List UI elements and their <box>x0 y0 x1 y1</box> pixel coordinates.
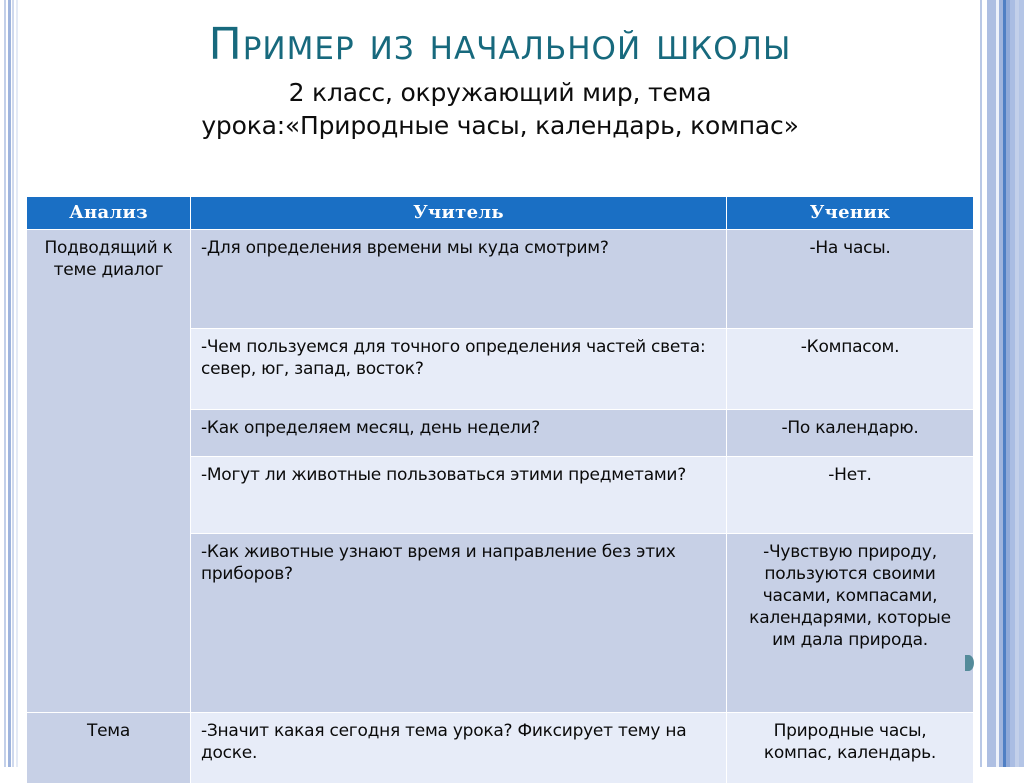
title-block: Пример из начальной школы 2 класс, окруж… <box>30 22 970 142</box>
teacher-cell: -Могут ли животные пользоваться этими пр… <box>191 457 727 534</box>
teacher-cell: -Для определения времени мы куда смотрим… <box>191 230 727 329</box>
teacher-cell: -Чем пользуемся для точного определения … <box>191 329 727 410</box>
lesson-analysis-table: Анализ Учитель Ученик Подводящий к теме … <box>26 196 974 784</box>
student-cell: -По календарю. <box>727 410 974 457</box>
table-header-row: Анализ Учитель Ученик <box>27 197 974 230</box>
edge-stripe <box>12 0 14 767</box>
subtitle-line-1: 2 класс, окружающий мир, тема <box>30 76 970 109</box>
column-header-student: Ученик <box>727 197 974 230</box>
teacher-cell: -Как животные узнают время и направление… <box>191 534 727 713</box>
table-row: Тема -Значит какая сегодня тема урока? Ф… <box>27 713 974 784</box>
edge-stripe <box>8 0 11 767</box>
analysis-label-topic: Тема <box>27 713 191 784</box>
student-cell: Природные часы, компас, календарь. <box>727 713 974 784</box>
edge-stripe <box>980 0 982 767</box>
edge-stripe <box>4 0 6 767</box>
column-header-analysis: Анализ <box>27 197 191 230</box>
table-row: Подводящий к теме диалог -Для определени… <box>27 230 974 329</box>
edge-stripe <box>16 0 18 767</box>
column-header-teacher: Учитель <box>191 197 727 230</box>
left-edge-decoration <box>0 0 22 767</box>
page-title: Пример из начальной школы <box>30 22 970 68</box>
right-edge-decoration <box>978 0 1024 767</box>
slide-canvas: Пример из начальной школы 2 класс, окруж… <box>0 0 1024 767</box>
page-subtitle: 2 класс, окружающий мир, тема урока:«При… <box>30 76 970 142</box>
student-cell: -Чувствую природу, пользуются своими час… <box>727 534 974 713</box>
student-cell: -На часы. <box>727 230 974 329</box>
subtitle-line-2: урока:«Природные часы, календарь, компас… <box>30 109 970 142</box>
teacher-cell: -Как определяем месяц, день недели? <box>191 410 727 457</box>
analysis-label-dialog: Подводящий к теме диалог <box>27 230 191 713</box>
edge-stripe <box>987 0 996 767</box>
student-cell: -Компасом. <box>727 329 974 410</box>
edge-stripe <box>1019 0 1024 767</box>
student-cell: -Нет. <box>727 457 974 534</box>
teacher-cell: -Значит какая сегодня тема урока? Фиксир… <box>191 713 727 784</box>
